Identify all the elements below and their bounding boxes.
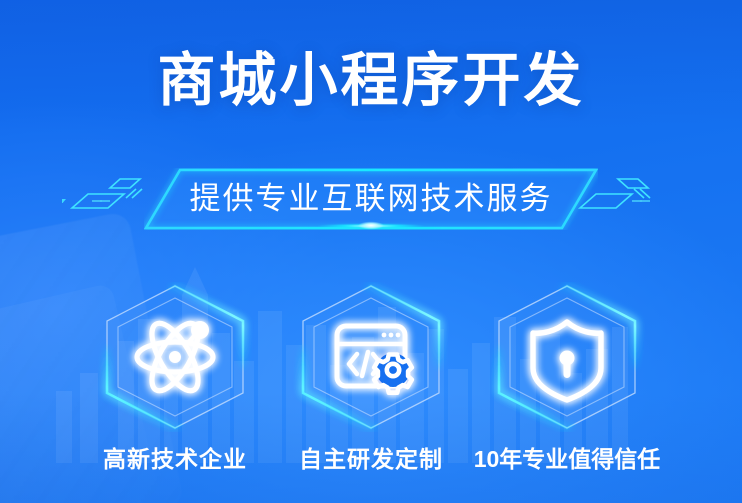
feature-list: 高新技术企业 [0, 282, 742, 482]
subtitle-banner: 提供专业互联网技术服务 [0, 168, 742, 230]
subtitle-light-flare-core [358, 221, 384, 230]
promo-banner: 商城小程序开发 [0, 0, 742, 503]
feature-label: 10年专业值得信任 [467, 440, 667, 474]
page-title: 商城小程序开发 [0, 52, 742, 110]
feature-label: 高新技术企业 [75, 440, 275, 474]
subtitle-text: 提供专业互联网技术服务 [0, 180, 742, 218]
feature-item[interactable]: 自主研发定制 [271, 282, 471, 474]
feature-item[interactable]: 高新技术企业 [75, 282, 275, 474]
hexagon-frame [271, 282, 471, 432]
hexagon-frame [467, 282, 667, 432]
feature-item[interactable]: 10年专业值得信任 [467, 282, 667, 474]
feature-label: 自主研发定制 [271, 440, 471, 474]
hexagon-frame [75, 282, 275, 432]
